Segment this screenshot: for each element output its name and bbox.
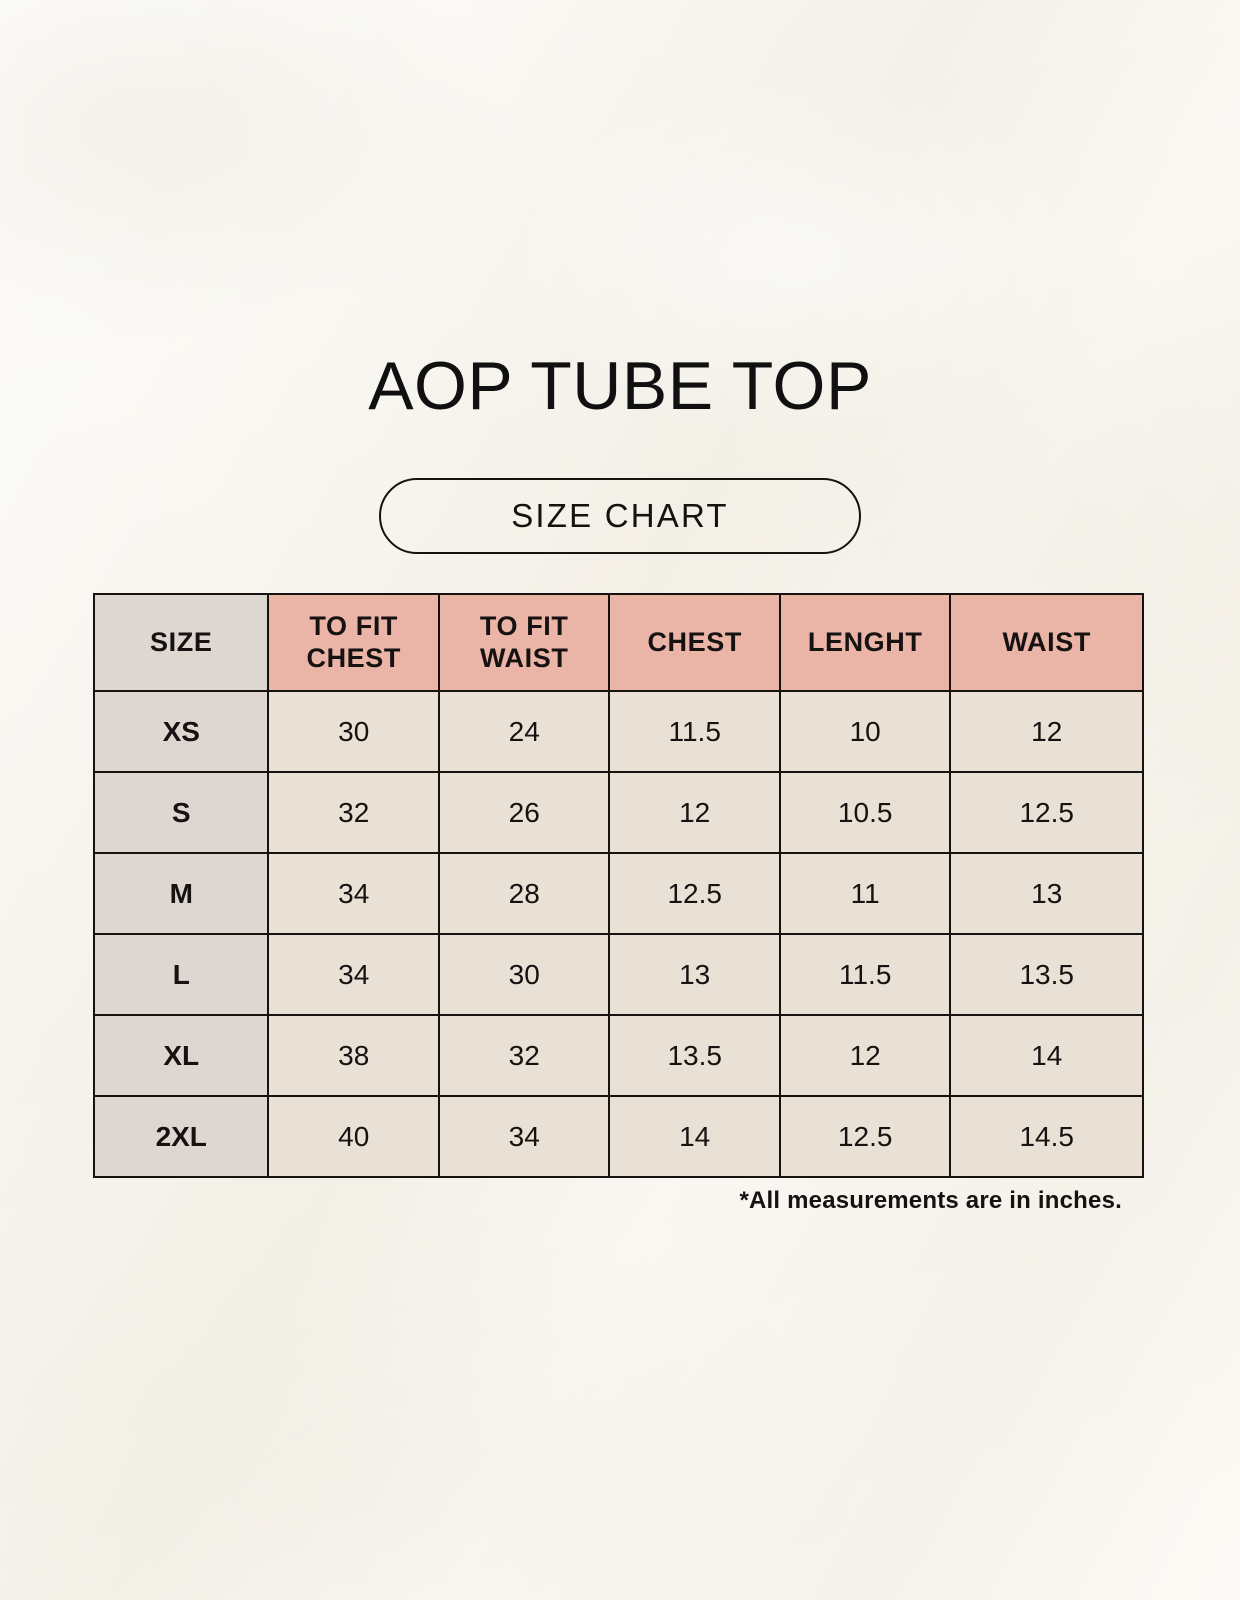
column-header-lenght: LENGHT	[780, 594, 950, 691]
column-header-chest: CHEST	[609, 594, 779, 691]
cell-to-fit-waist: 34	[439, 1096, 609, 1177]
cell-to-fit-waist: 24	[439, 691, 609, 772]
size-table-container: SIZE TO FIT CHEST TO FIT WAIST CHEST LEN	[93, 593, 1144, 1178]
cell-waist: 12	[950, 691, 1143, 772]
column-header-waist: WAIST	[950, 594, 1143, 691]
cell-lenght: 10	[780, 691, 950, 772]
cell-to-fit-chest: 30	[268, 691, 438, 772]
cell-size: 2XL	[94, 1096, 268, 1177]
table-row: XL 38 32 13.5 12 14	[94, 1015, 1143, 1096]
table-row: S 32 26 12 10.5 12.5	[94, 772, 1143, 853]
size-chart-badge-label: SIZE CHART	[511, 497, 729, 535]
cell-chest: 12	[609, 772, 779, 853]
column-header-size-line1: SIZE	[150, 627, 212, 657]
table-row: XS 30 24 11.5 10 12	[94, 691, 1143, 772]
cell-lenght: 10.5	[780, 772, 950, 853]
table-row: 2XL 40 34 14 12.5 14.5	[94, 1096, 1143, 1177]
cell-size: M	[94, 853, 268, 934]
column-header-waist-line1: WAIST	[1002, 627, 1091, 657]
table-body: XS 30 24 11.5 10 12 S 32 26 12 10.5 12.5…	[94, 691, 1143, 1177]
cell-to-fit-chest: 38	[268, 1015, 438, 1096]
cell-to-fit-waist: 32	[439, 1015, 609, 1096]
column-header-to-fit-waist: TO FIT WAIST	[439, 594, 609, 691]
page-title: AOP TUBE TOP	[0, 352, 1240, 420]
size-chart-badge: SIZE CHART	[379, 478, 861, 554]
column-header-to-fit-chest-line2: CHEST	[306, 643, 401, 673]
cell-chest: 11.5	[609, 691, 779, 772]
size-chart-table: SIZE TO FIT CHEST TO FIT WAIST CHEST LEN	[93, 593, 1144, 1178]
cell-waist: 13	[950, 853, 1143, 934]
cell-to-fit-waist: 30	[439, 934, 609, 1015]
cell-size: XL	[94, 1015, 268, 1096]
cell-chest: 12.5	[609, 853, 779, 934]
column-header-to-fit-chest-line1: TO FIT	[309, 611, 398, 641]
cell-to-fit-chest: 40	[268, 1096, 438, 1177]
column-header-to-fit-waist-line2: WAIST	[480, 643, 569, 673]
cell-waist: 13.5	[950, 934, 1143, 1015]
cell-to-fit-waist: 28	[439, 853, 609, 934]
cell-lenght: 11	[780, 853, 950, 934]
column-header-lenght-line1: LENGHT	[808, 627, 923, 657]
table-header-row: SIZE TO FIT CHEST TO FIT WAIST CHEST LEN	[94, 594, 1143, 691]
column-header-to-fit-chest: TO FIT CHEST	[268, 594, 438, 691]
column-header-chest-line1: CHEST	[647, 627, 742, 657]
table-row: M 34 28 12.5 11 13	[94, 853, 1143, 934]
column-header-size: SIZE	[94, 594, 268, 691]
measurement-note: *All measurements are in inches.	[93, 1187, 1144, 1215]
cell-to-fit-waist: 26	[439, 772, 609, 853]
cell-to-fit-chest: 34	[268, 934, 438, 1015]
cell-waist: 14	[950, 1015, 1143, 1096]
cell-size: L	[94, 934, 268, 1015]
cell-to-fit-chest: 32	[268, 772, 438, 853]
cell-lenght: 12	[780, 1015, 950, 1096]
size-chart-page: AOP TUBE TOP SIZE CHART SIZE TO FIT	[0, 0, 1240, 1600]
cell-size: XS	[94, 691, 268, 772]
cell-to-fit-chest: 34	[268, 853, 438, 934]
cell-waist: 12.5	[950, 772, 1143, 853]
cell-chest: 14	[609, 1096, 779, 1177]
cell-size: S	[94, 772, 268, 853]
cell-chest: 13.5	[609, 1015, 779, 1096]
table-header: SIZE TO FIT CHEST TO FIT WAIST CHEST LEN	[94, 594, 1143, 691]
cell-chest: 13	[609, 934, 779, 1015]
table-row: L 34 30 13 11.5 13.5	[94, 934, 1143, 1015]
column-header-to-fit-waist-line1: TO FIT	[480, 611, 569, 641]
cell-lenght: 11.5	[780, 934, 950, 1015]
cell-lenght: 12.5	[780, 1096, 950, 1177]
cell-waist: 14.5	[950, 1096, 1143, 1177]
